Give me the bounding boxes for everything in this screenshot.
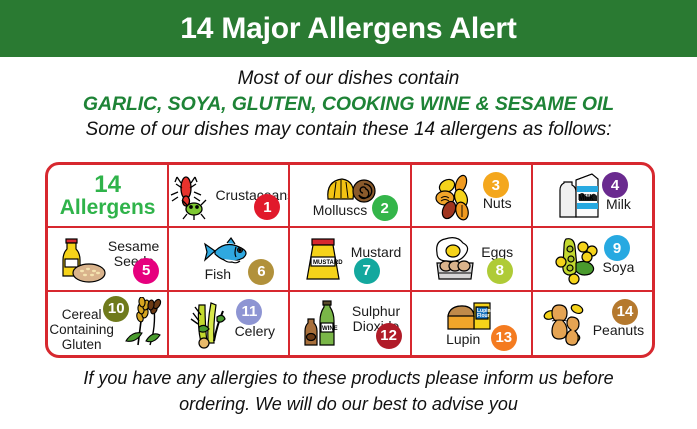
allergen-badge: 14 (612, 299, 638, 325)
allergen-row: Cereal Containing Gluten 10 (48, 292, 652, 355)
allergen-label: Nuts (483, 196, 512, 211)
allergen-cell-crustaceans[interactable]: Crustaceans 1 (169, 165, 290, 226)
allergen-badge: 6 (248, 259, 274, 285)
allergen-cell-sesame-seeds[interactable]: Sesame Seeds 5 (48, 228, 169, 289)
grid-title-cell: 14 Allergens (48, 165, 169, 226)
allergen-count-label: Allergens (60, 197, 156, 218)
allergen-label: Celery (235, 324, 275, 339)
mustard-jar-icon: MUSTARD (299, 233, 349, 285)
allergen-cell-cereal-gluten[interactable]: Cereal Containing Gluten 10 (48, 292, 169, 355)
svg-text:WINE: WINE (322, 326, 338, 332)
allergen-badge: 3 (483, 172, 509, 198)
allergen-cell-milk[interactable]: Milk Milk 4 (533, 165, 652, 226)
allergen-badge: 4 (602, 172, 628, 198)
fish-icon (201, 235, 257, 267)
intro-block: Most of our dishes contain GARLIC, SOYA,… (0, 57, 697, 143)
wine-bottle-icon: WINE (300, 297, 350, 349)
allergen-label: Lupin (446, 332, 480, 347)
allergen-row: Sesame Seeds 5 (48, 228, 652, 291)
allergen-label: Mustard (351, 245, 402, 260)
svg-text:Flour: Flour (477, 313, 490, 319)
celery-icon (183, 297, 233, 349)
shell-icon (322, 173, 378, 203)
allergen-badge: 11 (236, 299, 262, 325)
allergen-badge: 7 (354, 258, 380, 284)
eggs-icon (429, 233, 479, 285)
allergen-grid: 14 Allergens (45, 162, 655, 358)
footer-line-2: ordering. We will do our best to advise … (0, 392, 697, 418)
allergen-cell-molluscs[interactable]: Molluscs 2 (290, 165, 411, 226)
allergen-cell-fish[interactable]: Fish 6 (169, 228, 290, 289)
footer-note: If you have any allergies to these produ… (0, 366, 697, 417)
intro-line-1: Most of our dishes contain (0, 66, 697, 91)
allergen-label: Molluscs (313, 203, 367, 218)
allergen-badge: 2 (372, 195, 398, 221)
milk-carton-icon: Milk (554, 170, 604, 222)
lobster-crab-icon (169, 170, 213, 222)
allergen-cell-sulphur-dioxide[interactable]: WINE Sulphur Dioxide 12 (290, 292, 411, 355)
allergen-label: Soya (602, 260, 634, 275)
intro-line-2-highlight: GARLIC, SOYA, GLUTEN, COOKING WINE & SES… (0, 91, 697, 117)
allergen-badge: 10 (103, 296, 129, 322)
allergen-cell-lupin[interactable]: Lupin Flour Lupin 13 (412, 292, 533, 355)
nuts-icon (431, 170, 481, 222)
header-band: 14 Major Allergens Alert (0, 0, 697, 57)
soybean-icon (550, 233, 600, 285)
allergen-label: Crustaceans (216, 188, 291, 203)
allergen-label: Peanuts (593, 323, 644, 338)
allergen-label: Milk (606, 197, 631, 212)
svg-text:MUSTARD: MUSTARD (313, 260, 343, 266)
allergen-badge: 13 (491, 325, 517, 351)
svg-text:Milk: Milk (578, 193, 594, 202)
allergen-badge: 12 (376, 323, 402, 349)
allergen-cell-mustard[interactable]: MUSTARD Mustard 7 (290, 228, 411, 289)
allergen-label: Fish (205, 267, 231, 282)
allergen-cell-celery[interactable]: Celery 11 (169, 292, 290, 355)
allergen-row: 14 Allergens (48, 165, 652, 228)
peanuts-icon (541, 297, 591, 349)
allergen-badge: 8 (487, 258, 513, 284)
allergen-cell-nuts[interactable]: Nuts 3 (412, 165, 533, 226)
footer-line-1: If you have any allergies to these produ… (0, 366, 697, 392)
sesame-icon (56, 233, 106, 285)
allergen-cell-peanuts[interactable]: Peanuts 14 (533, 292, 652, 355)
allergen-badge: 5 (133, 258, 159, 284)
allergen-cell-soya[interactable]: Soya 9 (533, 228, 652, 289)
allergen-cell-eggs[interactable]: Eggs 8 (412, 228, 533, 289)
page-title: 14 Major Allergens Alert (180, 14, 516, 44)
intro-line-3: Some of our dishes may contain these 14 … (0, 117, 697, 142)
allergen-count: 14 (94, 173, 121, 197)
lupin-flour-icon: Lupin Flour (442, 300, 500, 332)
